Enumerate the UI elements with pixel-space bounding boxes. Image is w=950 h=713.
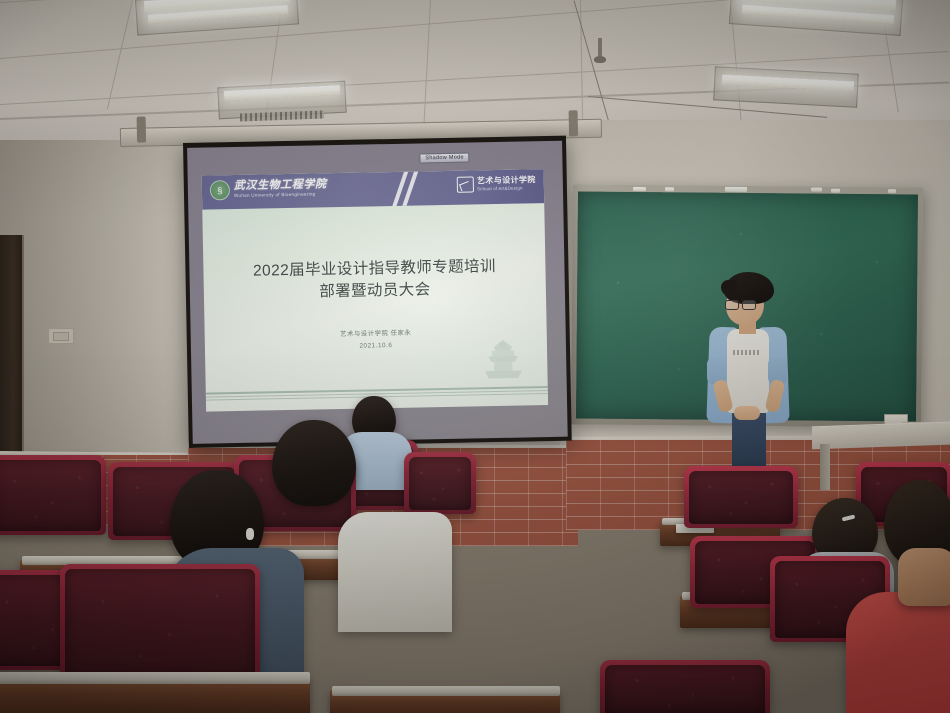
wall-shadow <box>0 140 190 470</box>
lecture-hall-photo: Shadow Mode § 武汉生物工程学院 Wuhan University … <box>0 0 950 713</box>
chalk-piece-6[interactable] <box>888 189 896 193</box>
school-logo: 艺术与设计学院 School of Art&Design <box>457 175 536 193</box>
attendee-torso-front-right <box>846 592 950 713</box>
light-switch-plate[interactable] <box>48 328 74 344</box>
presenter-glasses-icon <box>725 300 755 308</box>
screen-bracket-left <box>137 117 146 143</box>
presenter-hands <box>734 406 760 420</box>
chalk-piece-4[interactable] <box>811 188 822 192</box>
seat-back-2[interactable] <box>404 452 476 514</box>
presenter-tshirt <box>727 329 769 413</box>
university-name-en: Wuhan University of Bioengineering <box>234 192 327 198</box>
seat-front-right[interactable] <box>600 660 770 713</box>
instructor-desk[interactable] <box>812 422 950 450</box>
slide-watermark-icon <box>475 337 532 382</box>
projector-osd-label: Shadow Mode <box>419 152 470 163</box>
doorway[interactable] <box>0 235 24 467</box>
attendee-head-center-right <box>272 420 356 506</box>
slide-title: 2022届毕业设计指导教师专题培训 部署暨动员大会 <box>203 255 546 306</box>
university-logo: § 武汉生物工程学院 Wuhan University of Bioengine… <box>210 178 327 200</box>
screen-bracket-right <box>569 110 578 136</box>
school-mark-icon <box>457 176 474 192</box>
presenter-tshirt-print <box>733 350 759 355</box>
seat-front-center[interactable] <box>60 564 260 682</box>
attendee-neck-front-right <box>898 548 950 606</box>
instructor-desk-leg <box>820 444 830 490</box>
chalk-piece-5[interactable] <box>831 189 840 193</box>
university-seal-icon: § <box>210 180 230 200</box>
desk-top-front-2 <box>332 686 560 696</box>
presenter <box>694 272 802 470</box>
school-name-cn: 艺术与设计学院 <box>477 176 536 185</box>
chalk-piece-1[interactable] <box>633 187 646 191</box>
school-name-en: School of Art&Design <box>477 186 536 192</box>
fire-sprinkler-icon <box>598 38 602 58</box>
attendee-torso-center-right <box>338 512 452 632</box>
desk-top-front-1 <box>0 672 310 684</box>
chalk-piece-3[interactable] <box>725 187 747 192</box>
seat-left-1[interactable] <box>0 455 106 535</box>
face-mask-strap <box>246 528 254 540</box>
seat-right-1[interactable] <box>684 466 798 528</box>
university-name-cn: 武汉生物工程学院 <box>234 179 327 192</box>
chalk-piece-2[interactable] <box>665 187 674 191</box>
slide-body: 2022届毕业设计指导教师专题培训 部署暨动员大会 艺术与设计学院 任家永 20… <box>202 203 548 412</box>
presentation-slide: § 武汉生物工程学院 Wuhan University of Bioengine… <box>202 169 548 412</box>
